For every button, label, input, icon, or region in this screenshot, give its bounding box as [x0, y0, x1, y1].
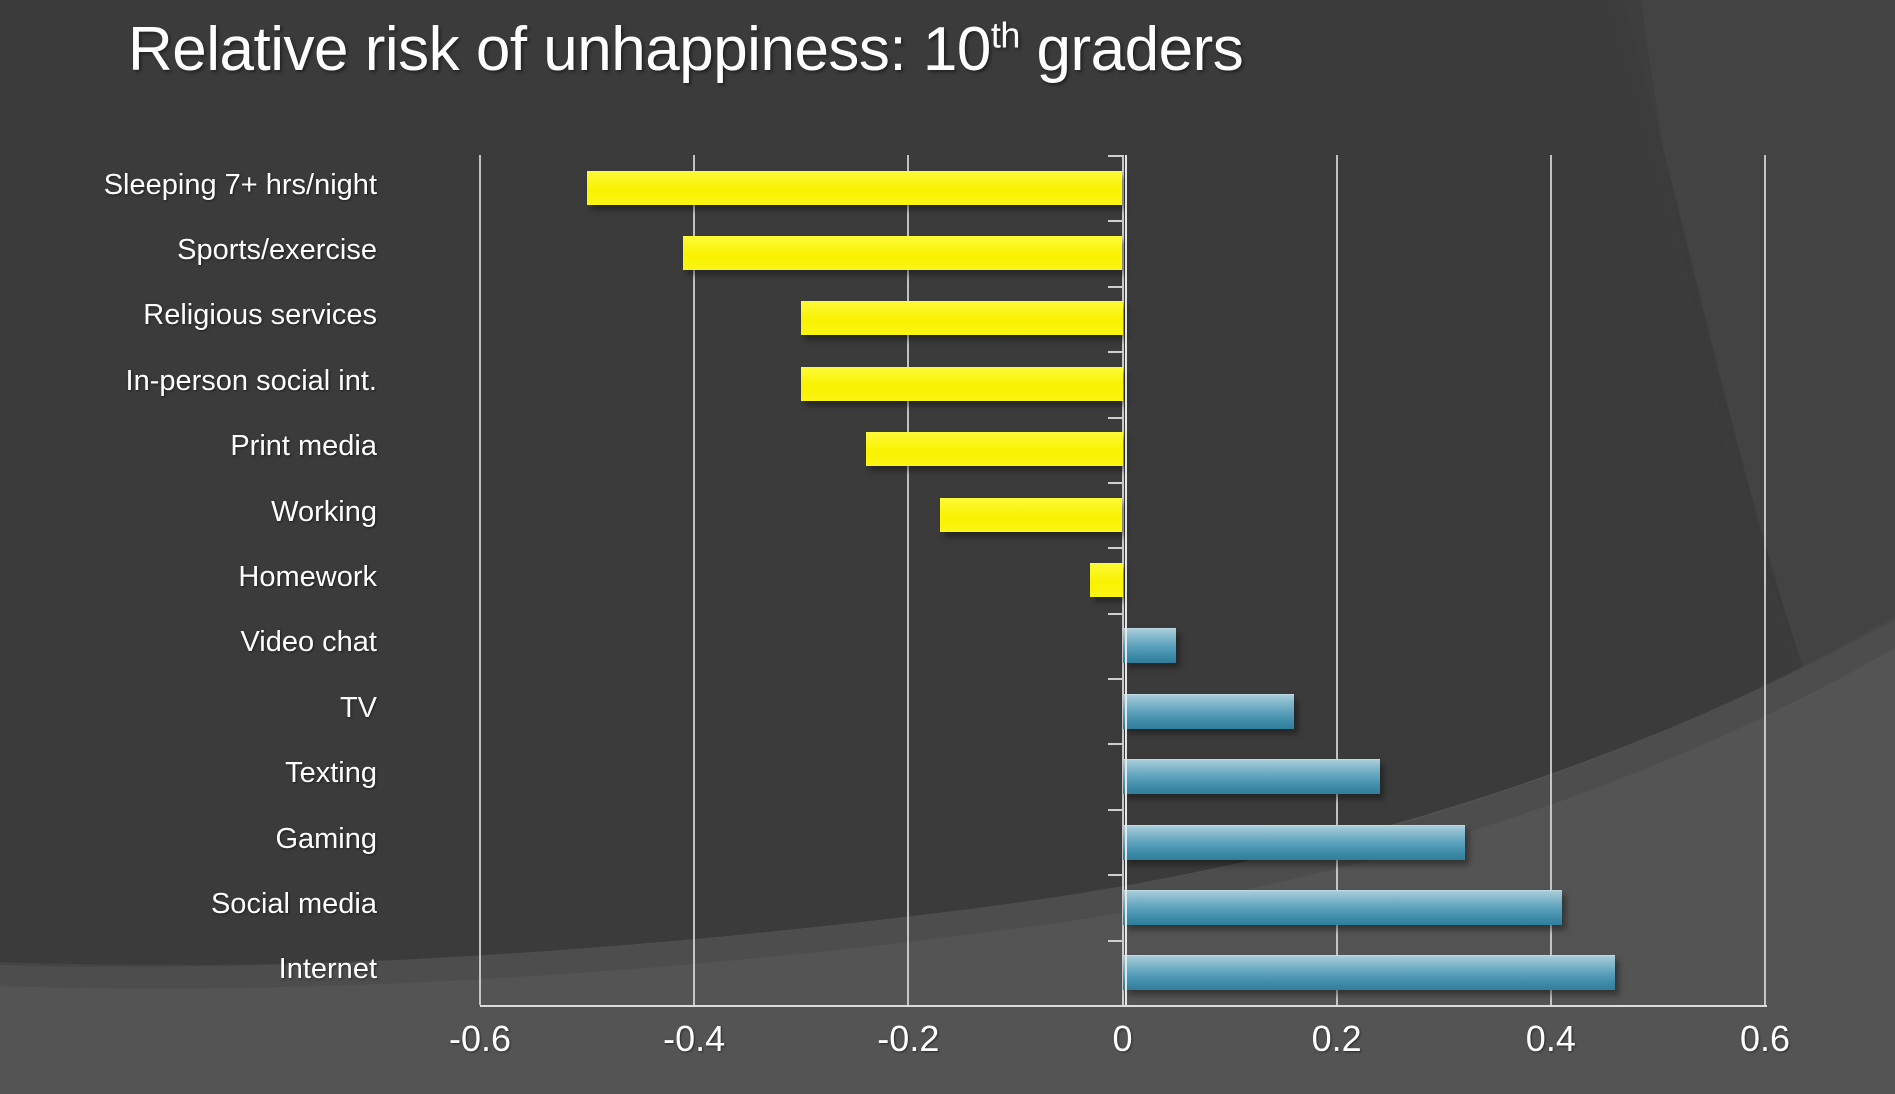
- bar-row: [480, 155, 1765, 220]
- category-label-print-media: Print media: [230, 430, 377, 463]
- bar-row: [480, 482, 1765, 547]
- bar-gaming[interactable]: [1123, 825, 1466, 860]
- bar-video-chat[interactable]: [1123, 628, 1177, 663]
- category-label-sleeping-7-hrs-night: Sleeping 7+ hrs/night: [104, 169, 377, 202]
- bar-internet[interactable]: [1123, 955, 1616, 990]
- bar-religious-services[interactable]: [801, 301, 1122, 335]
- bar-row: [480, 940, 1765, 1005]
- category-label-tv: TV: [340, 692, 377, 725]
- category-label-video-chat: Video chat: [240, 626, 377, 659]
- bar-tv[interactable]: [1123, 694, 1294, 729]
- category-label-sports-exercise: Sports/exercise: [177, 234, 377, 267]
- value-tick-label-0.6: 0.6: [1740, 1018, 1790, 1060]
- category-label-internet: Internet: [279, 953, 377, 986]
- bar-row: [480, 417, 1765, 482]
- bar-homework[interactable]: [1090, 563, 1122, 597]
- value-tick-label-0.4: 0.4: [1526, 1018, 1576, 1060]
- category-label-working: Working: [271, 496, 377, 529]
- value-tick-label-0.2: 0.2: [1312, 1018, 1362, 1060]
- value-tick-label--0.6: -0.6: [449, 1018, 511, 1060]
- title-superscript: th: [991, 15, 1020, 56]
- bar-in-person-social-int[interactable]: [801, 367, 1122, 401]
- category-label-homework: Homework: [238, 561, 377, 594]
- bar-sports-exercise[interactable]: [683, 236, 1122, 270]
- bar-sleeping-7-hrs-night[interactable]: [587, 171, 1122, 205]
- value-tick-label--0.4: -0.4: [663, 1018, 725, 1060]
- value-tick-label-0: 0: [1112, 1018, 1132, 1060]
- chart-plot-area: [480, 155, 1765, 1005]
- bar-row: [480, 809, 1765, 874]
- bar-row: [480, 743, 1765, 808]
- value-axis-labels: -0.6-0.4-0.200.20.40.6: [0, 1018, 1895, 1088]
- category-axis-labels: Sleeping 7+ hrs/nightSports/exerciseReli…: [0, 155, 395, 1005]
- bar-texting[interactable]: [1123, 759, 1380, 794]
- category-axis-line: [1125, 155, 1127, 1005]
- category-label-religious-services: Religious services: [143, 299, 377, 332]
- slide-canvas: Relative risk of unhappiness: 10th grade…: [0, 0, 1895, 1094]
- bar-working[interactable]: [940, 498, 1122, 532]
- bar-row: [480, 678, 1765, 743]
- value-tick-label--0.2: -0.2: [877, 1018, 939, 1060]
- category-tick: [1108, 155, 1123, 157]
- category-label-in-person-social-int: In-person social int.: [126, 365, 377, 398]
- category-label-social-media: Social media: [211, 888, 377, 921]
- title-tail-text: graders: [1020, 15, 1243, 84]
- bar-row: [480, 351, 1765, 416]
- value-axis-line: [480, 1005, 1767, 1007]
- bar-print-media[interactable]: [866, 432, 1123, 466]
- page-title: Relative risk of unhappiness: 10th grade…: [128, 14, 1243, 85]
- bar-row: [480, 547, 1765, 612]
- category-label-gaming: Gaming: [275, 823, 377, 856]
- bar-row: [480, 220, 1765, 285]
- bar-row: [480, 613, 1765, 678]
- category-label-texting: Texting: [285, 757, 377, 790]
- bar-row: [480, 874, 1765, 939]
- title-main-text: Relative risk of unhappiness: 10: [128, 15, 991, 84]
- bar-social-media[interactable]: [1123, 890, 1562, 925]
- bar-row: [480, 286, 1765, 351]
